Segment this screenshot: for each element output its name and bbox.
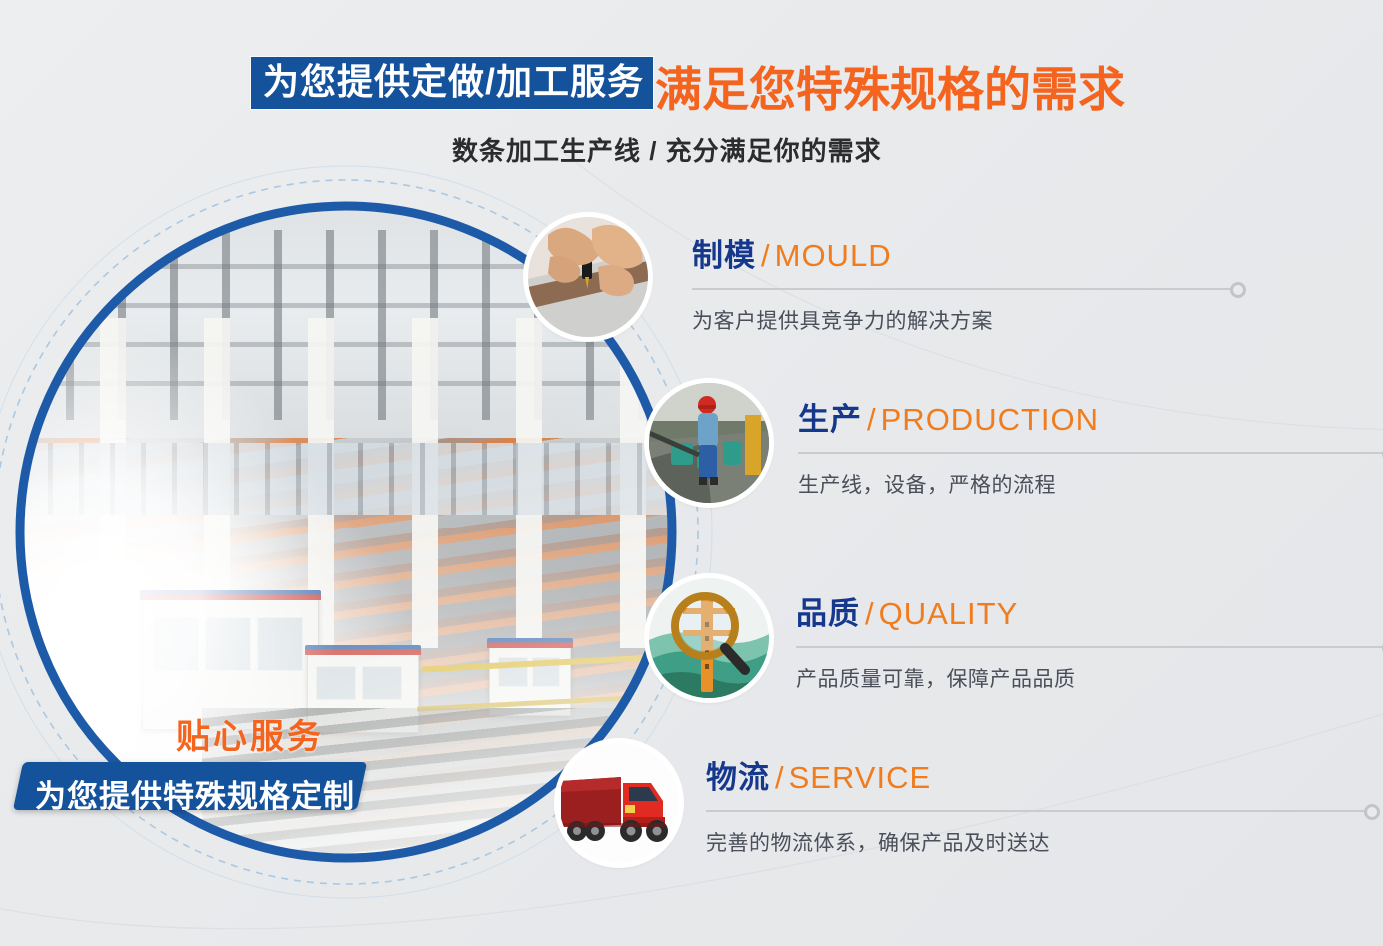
production-text: 生产/PRODUCTION 生产线，设备，严格的流程 (798, 404, 1383, 499)
quality-text: 品质/QUALITY 产品质量可靠，保障产品品质 (796, 598, 1383, 693)
promo-banner: 为您提供定做/加工服务 满足您特殊规格的需求 数条加工生产线 / 充分满足你的需… (0, 0, 1383, 946)
feature-divider (706, 810, 1366, 812)
feature-title-slash: / (761, 238, 770, 273)
headline-badge: 为您提供定做/加工服务 (251, 57, 653, 109)
mould-text: 制模/MOULD 为客户提供具竞争力的解决方案 (692, 240, 1232, 335)
feature-title-cn: 生产 (798, 402, 862, 437)
feature-divider (692, 288, 1232, 290)
headline-orange: 满足您特殊规格的需求 (655, 66, 1125, 113)
quality-icon (649, 578, 769, 698)
service-icon (559, 743, 679, 863)
feature-title-en: MOULD (775, 238, 892, 273)
feature-desc: 完善的物流体系，确保产品及时送达 (706, 827, 1366, 857)
headline-row: 为您提供定做/加工服务 满足您特殊规格的需求 (251, 57, 1125, 109)
feature-title: 物流/SERVICE (706, 762, 1366, 793)
service-text: 物流/SERVICE 完善的物流体系，确保产品及时送达 (706, 762, 1366, 857)
feature-title-cn: 制模 (692, 238, 756, 273)
subheadline: 数条加工生产线 / 充分满足你的需求 (452, 131, 882, 168)
feature-title: 生产/PRODUCTION (798, 404, 1383, 435)
mould-icon (528, 217, 648, 337)
feature-title-en: SERVICE (789, 760, 932, 795)
feature-title-en: PRODUCTION (881, 402, 1099, 437)
production-icon (649, 383, 769, 503)
feature-title-cn: 物流 (706, 760, 770, 795)
feature-title-cn: 品质 (796, 596, 860, 631)
divider-end-dot (1230, 282, 1246, 298)
feature-desc: 生产线，设备，严格的流程 (798, 469, 1383, 499)
feature-title-en: QUALITY (879, 596, 1019, 631)
feature-title: 品质/QUALITY (796, 598, 1383, 629)
callout-band-text: 为您提供特殊规格定制 (35, 771, 355, 816)
feature-title-slash: / (865, 596, 874, 631)
feature-desc: 产品质量可靠，保障产品品质 (796, 663, 1383, 693)
feature-title: 制模/MOULD (692, 240, 1232, 271)
feature-title-slash: / (867, 402, 876, 437)
callout-title: 贴心服务 (176, 709, 324, 758)
feature-title-slash: / (775, 760, 784, 795)
feature-divider (798, 452, 1383, 454)
feature-desc: 为客户提供具竞争力的解决方案 (692, 305, 1232, 335)
feature-divider (796, 646, 1383, 648)
divider-end-dot (1364, 804, 1380, 820)
